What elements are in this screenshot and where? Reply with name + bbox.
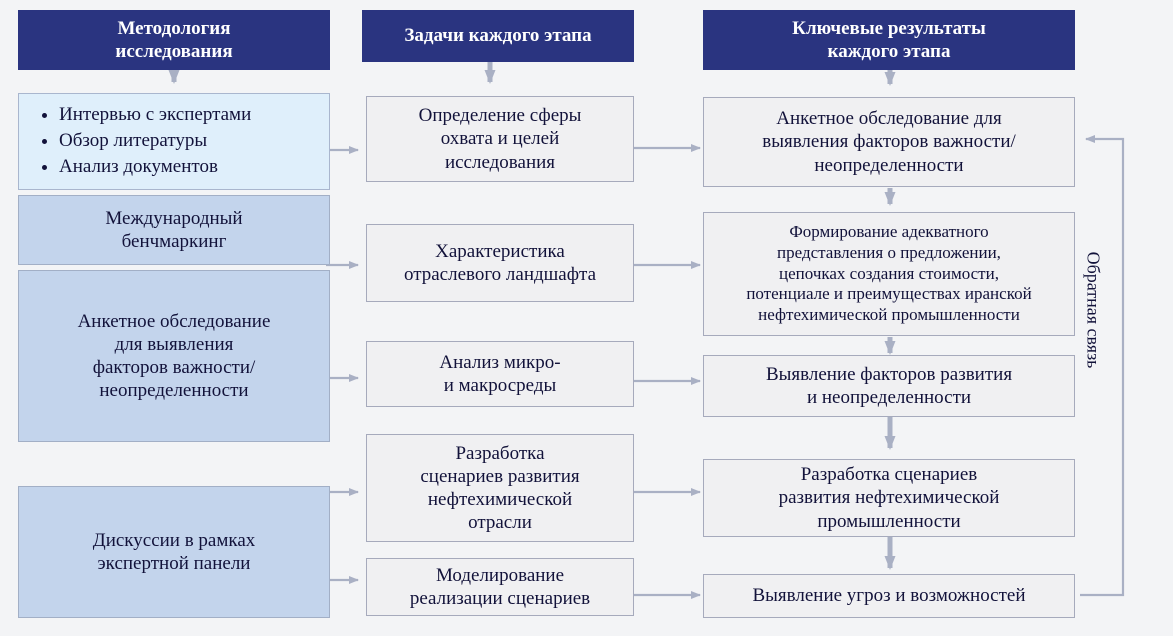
column-header-results: Ключевые результаты каждого этапа bbox=[703, 10, 1075, 70]
methods-bullet-list: Интервью с экспертами Обзор литературы А… bbox=[19, 102, 329, 180]
node-scenario-model-label: Моделирование реализации сценариев bbox=[400, 564, 600, 610]
feedback-label-text: Обратная связь bbox=[1084, 252, 1104, 369]
node-scenarios-result[interactable]: Разработка сценариев развития нефтехимич… bbox=[703, 459, 1075, 537]
node-micro-macro-label: Анализ микро- и макросреды bbox=[429, 351, 570, 397]
node-scenario-dev-label: Разработка сценариев развития нефтехимич… bbox=[410, 442, 589, 535]
node-scope[interactable]: Определение сферы охвата и целей исследо… bbox=[366, 96, 634, 182]
node-survey-left-label: Анкетное обследование для выявления факт… bbox=[68, 310, 281, 403]
node-expert-panel-label: Дискуссии в рамках экспертной панели bbox=[83, 529, 266, 575]
node-survey-right-label: Анкетное обследование для выявления факт… bbox=[752, 107, 1026, 177]
node-survey-right[interactable]: Анкетное обследование для выявления факт… bbox=[703, 97, 1075, 187]
node-adequate-view-label: Формирование адекватного представления о… bbox=[736, 222, 1041, 326]
node-factors[interactable]: Выявление факторов развития и неопределе… bbox=[703, 355, 1075, 417]
node-threats-opps-label: Выявление угроз и возможностей bbox=[742, 584, 1035, 607]
list-item: Обзор литературы bbox=[59, 129, 329, 154]
column-header-methodology-line2: исследования bbox=[115, 40, 232, 63]
column-header-results-line2: каждого этапа bbox=[828, 40, 951, 63]
list-item: Интервью с экспертами bbox=[59, 103, 329, 128]
node-benchmarking[interactable]: Международный бенчмаркинг bbox=[18, 195, 330, 265]
node-benchmarking-label: Международный бенчмаркинг bbox=[95, 207, 252, 253]
node-landscape-label: Характеристика отраслевого ландшафта bbox=[394, 240, 606, 286]
node-threats-opps[interactable]: Выявление угроз и возможностей bbox=[703, 574, 1075, 618]
node-scope-label: Определение сферы охвата и целей исследо… bbox=[409, 104, 592, 174]
column-header-tasks: Задачи каждого этапа bbox=[362, 10, 634, 62]
column-header-results-line1: Ключевые результаты bbox=[792, 17, 986, 40]
node-scenarios-result-label: Разработка сценариев развития нефтехимич… bbox=[769, 463, 1010, 533]
node-survey-left[interactable]: Анкетное обследование для выявления факт… bbox=[18, 270, 330, 442]
node-scenario-model[interactable]: Моделирование реализации сценариев bbox=[366, 558, 634, 616]
column-header-methodology: Методология исследования bbox=[18, 10, 330, 70]
node-adequate-view[interactable]: Формирование адекватного представления о… bbox=[703, 212, 1075, 336]
node-methods-list[interactable]: Интервью с экспертами Обзор литературы А… bbox=[18, 93, 330, 190]
node-factors-label: Выявление факторов развития и неопределе… bbox=[756, 363, 1022, 409]
column-header-methodology-line1: Методология bbox=[117, 17, 230, 40]
diagram-canvas: Методология исследования Интервью с эксп… bbox=[0, 0, 1173, 636]
node-micro-macro[interactable]: Анализ микро- и макросреды bbox=[366, 341, 634, 407]
list-item: Анализ документов bbox=[59, 155, 329, 180]
column-header-tasks-label: Задачи каждого этапа bbox=[404, 24, 591, 47]
feedback-label: Обратная связь bbox=[1083, 252, 1104, 369]
node-scenario-dev[interactable]: Разработка сценариев развития нефтехимич… bbox=[366, 434, 634, 542]
node-expert-panel[interactable]: Дискуссии в рамках экспертной панели bbox=[18, 486, 330, 618]
node-landscape[interactable]: Характеристика отраслевого ландшафта bbox=[366, 224, 634, 302]
